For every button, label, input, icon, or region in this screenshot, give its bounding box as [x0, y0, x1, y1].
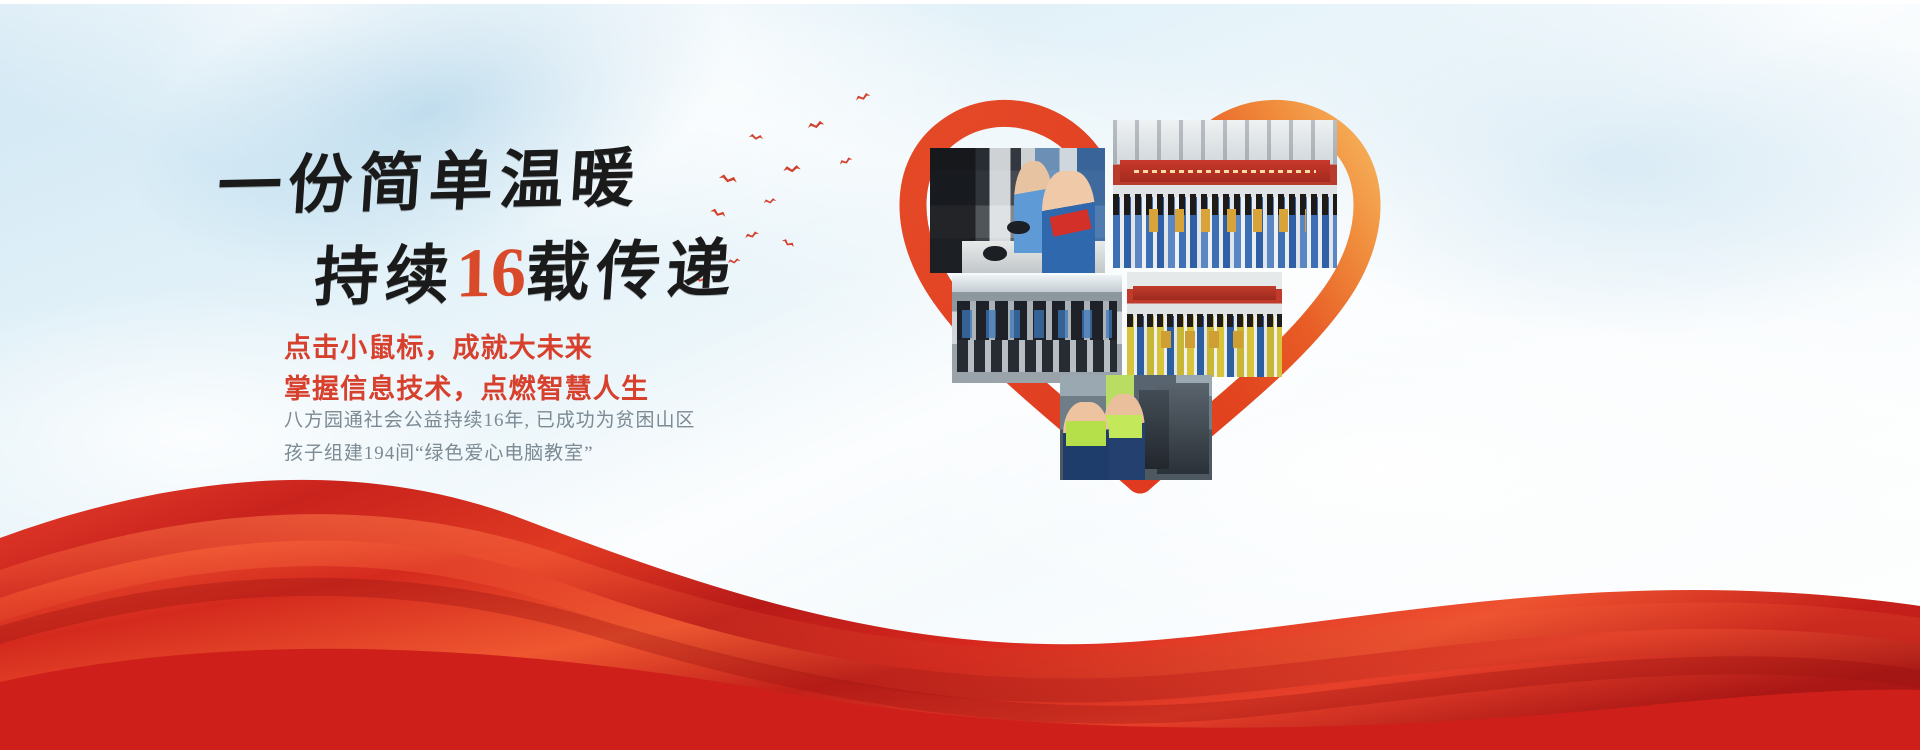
- bird-icon: [783, 165, 801, 174]
- photo-group-1: [1113, 120, 1337, 268]
- photo-kids: [1060, 375, 1212, 480]
- headline-line-1: 一份简单温暖: [215, 144, 752, 219]
- subtitle: 点击小鼠标，成就大未来 掌握信息技术，点燃智慧人生: [284, 328, 649, 410]
- bird-icon: [748, 133, 763, 141]
- headline: 一份简单温暖 持续16载传递: [210, 150, 750, 308]
- bird-icon: [807, 120, 825, 131]
- bird-icon: [781, 238, 796, 250]
- subtitle-line-1: 点击小鼠标，成就大未来: [284, 328, 649, 369]
- charity-hero-banner: 一份简单温暖 持续16载传递 点击小鼠标，成就大未来 掌握信息技术，点燃智慧人生…: [0, 0, 1920, 750]
- subtitle-line-2: 掌握信息技术，点燃智慧人生: [284, 369, 649, 410]
- top-edge-highlight: [0, 0, 1920, 4]
- ribbon-svg: [0, 420, 1920, 750]
- headline-years-number: 16: [455, 238, 526, 309]
- headline-line-2: 持续16载传递: [312, 233, 752, 312]
- photo-lab-2: [952, 275, 1122, 383]
- bird-icon: [763, 198, 777, 206]
- headline-line-2-prefix: 持续: [312, 240, 458, 314]
- red-ribbon-decoration: [0, 420, 1920, 750]
- photo-lab-1: [930, 148, 1105, 273]
- photo-group-2: [1127, 272, 1282, 377]
- headline-line-2-suffix: 载传递: [523, 234, 739, 309]
